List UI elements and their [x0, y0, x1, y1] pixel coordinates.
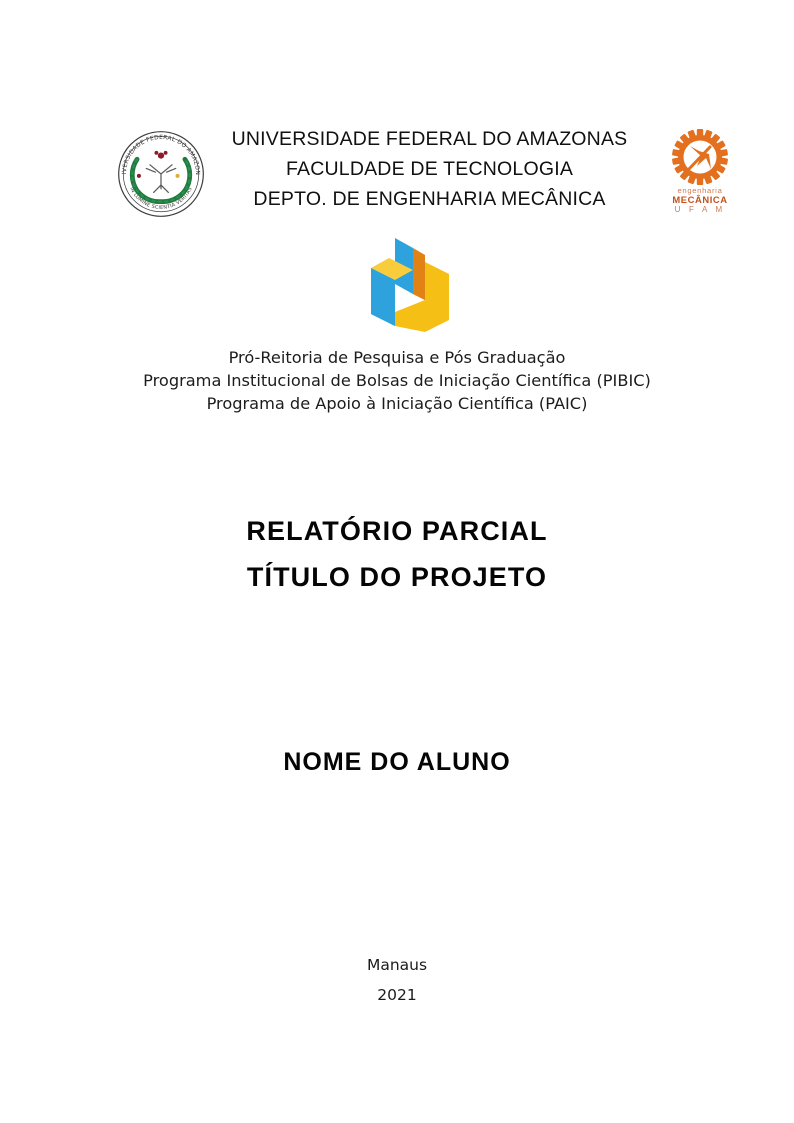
header-band: UNIVERSIDADE FEDERAL DO AMAZONAS IN LUMI…	[0, 120, 794, 225]
gear-icon	[652, 128, 748, 188]
engenharia-mecanica-logo: engenharia MECÂNICA U F A M	[652, 128, 748, 224]
document-title: RELATÓRIO PARCIAL TÍTULO DO PROJETO	[0, 508, 794, 600]
ufam-seal-icon: UNIVERSIDADE FEDERAL DO AMAZONAS IN LUMI…	[115, 128, 207, 220]
footer-city: Manaus	[0, 950, 794, 980]
author-section: NOME DO ALUNO	[0, 748, 794, 777]
propesp-logo-icon	[355, 232, 460, 340]
institution-line-2: FACULDADE DE TECNOLOGIA	[207, 154, 652, 184]
program-info: Pró-Reitoria de Pesquisa e Pós Graduação…	[0, 346, 794, 415]
footer-year: 2021	[0, 980, 794, 1010]
program-line-1: Pró-Reitoria de Pesquisa e Pós Graduação	[0, 346, 794, 369]
program-line-2: Programa Institucional de Bolsas de Inic…	[0, 369, 794, 392]
program-line-3: Programa de Apoio à Iniciação Científica…	[0, 392, 794, 415]
author-name: NOME DO ALUNO	[0, 748, 794, 777]
institution-line-3: DEPTO. DE ENGENHARIA MECÂNICA	[207, 184, 652, 214]
institution-heading: UNIVERSIDADE FEDERAL DO AMAZONAS FACULDA…	[207, 124, 652, 214]
cover-page: UNIVERSIDADE FEDERAL DO AMAZONAS IN LUMI…	[0, 0, 794, 1123]
title-line-report-type: RELATÓRIO PARCIAL	[0, 508, 794, 554]
gear-logo-line-3: U F A M	[652, 205, 748, 214]
title-line-project-title: TÍTULO DO PROJETO	[0, 554, 794, 600]
institution-line-1: UNIVERSIDADE FEDERAL DO AMAZONAS	[207, 124, 652, 154]
gear-logo-line-2: MECÂNICA	[652, 194, 748, 205]
footer-section: Manaus 2021	[0, 950, 794, 1010]
